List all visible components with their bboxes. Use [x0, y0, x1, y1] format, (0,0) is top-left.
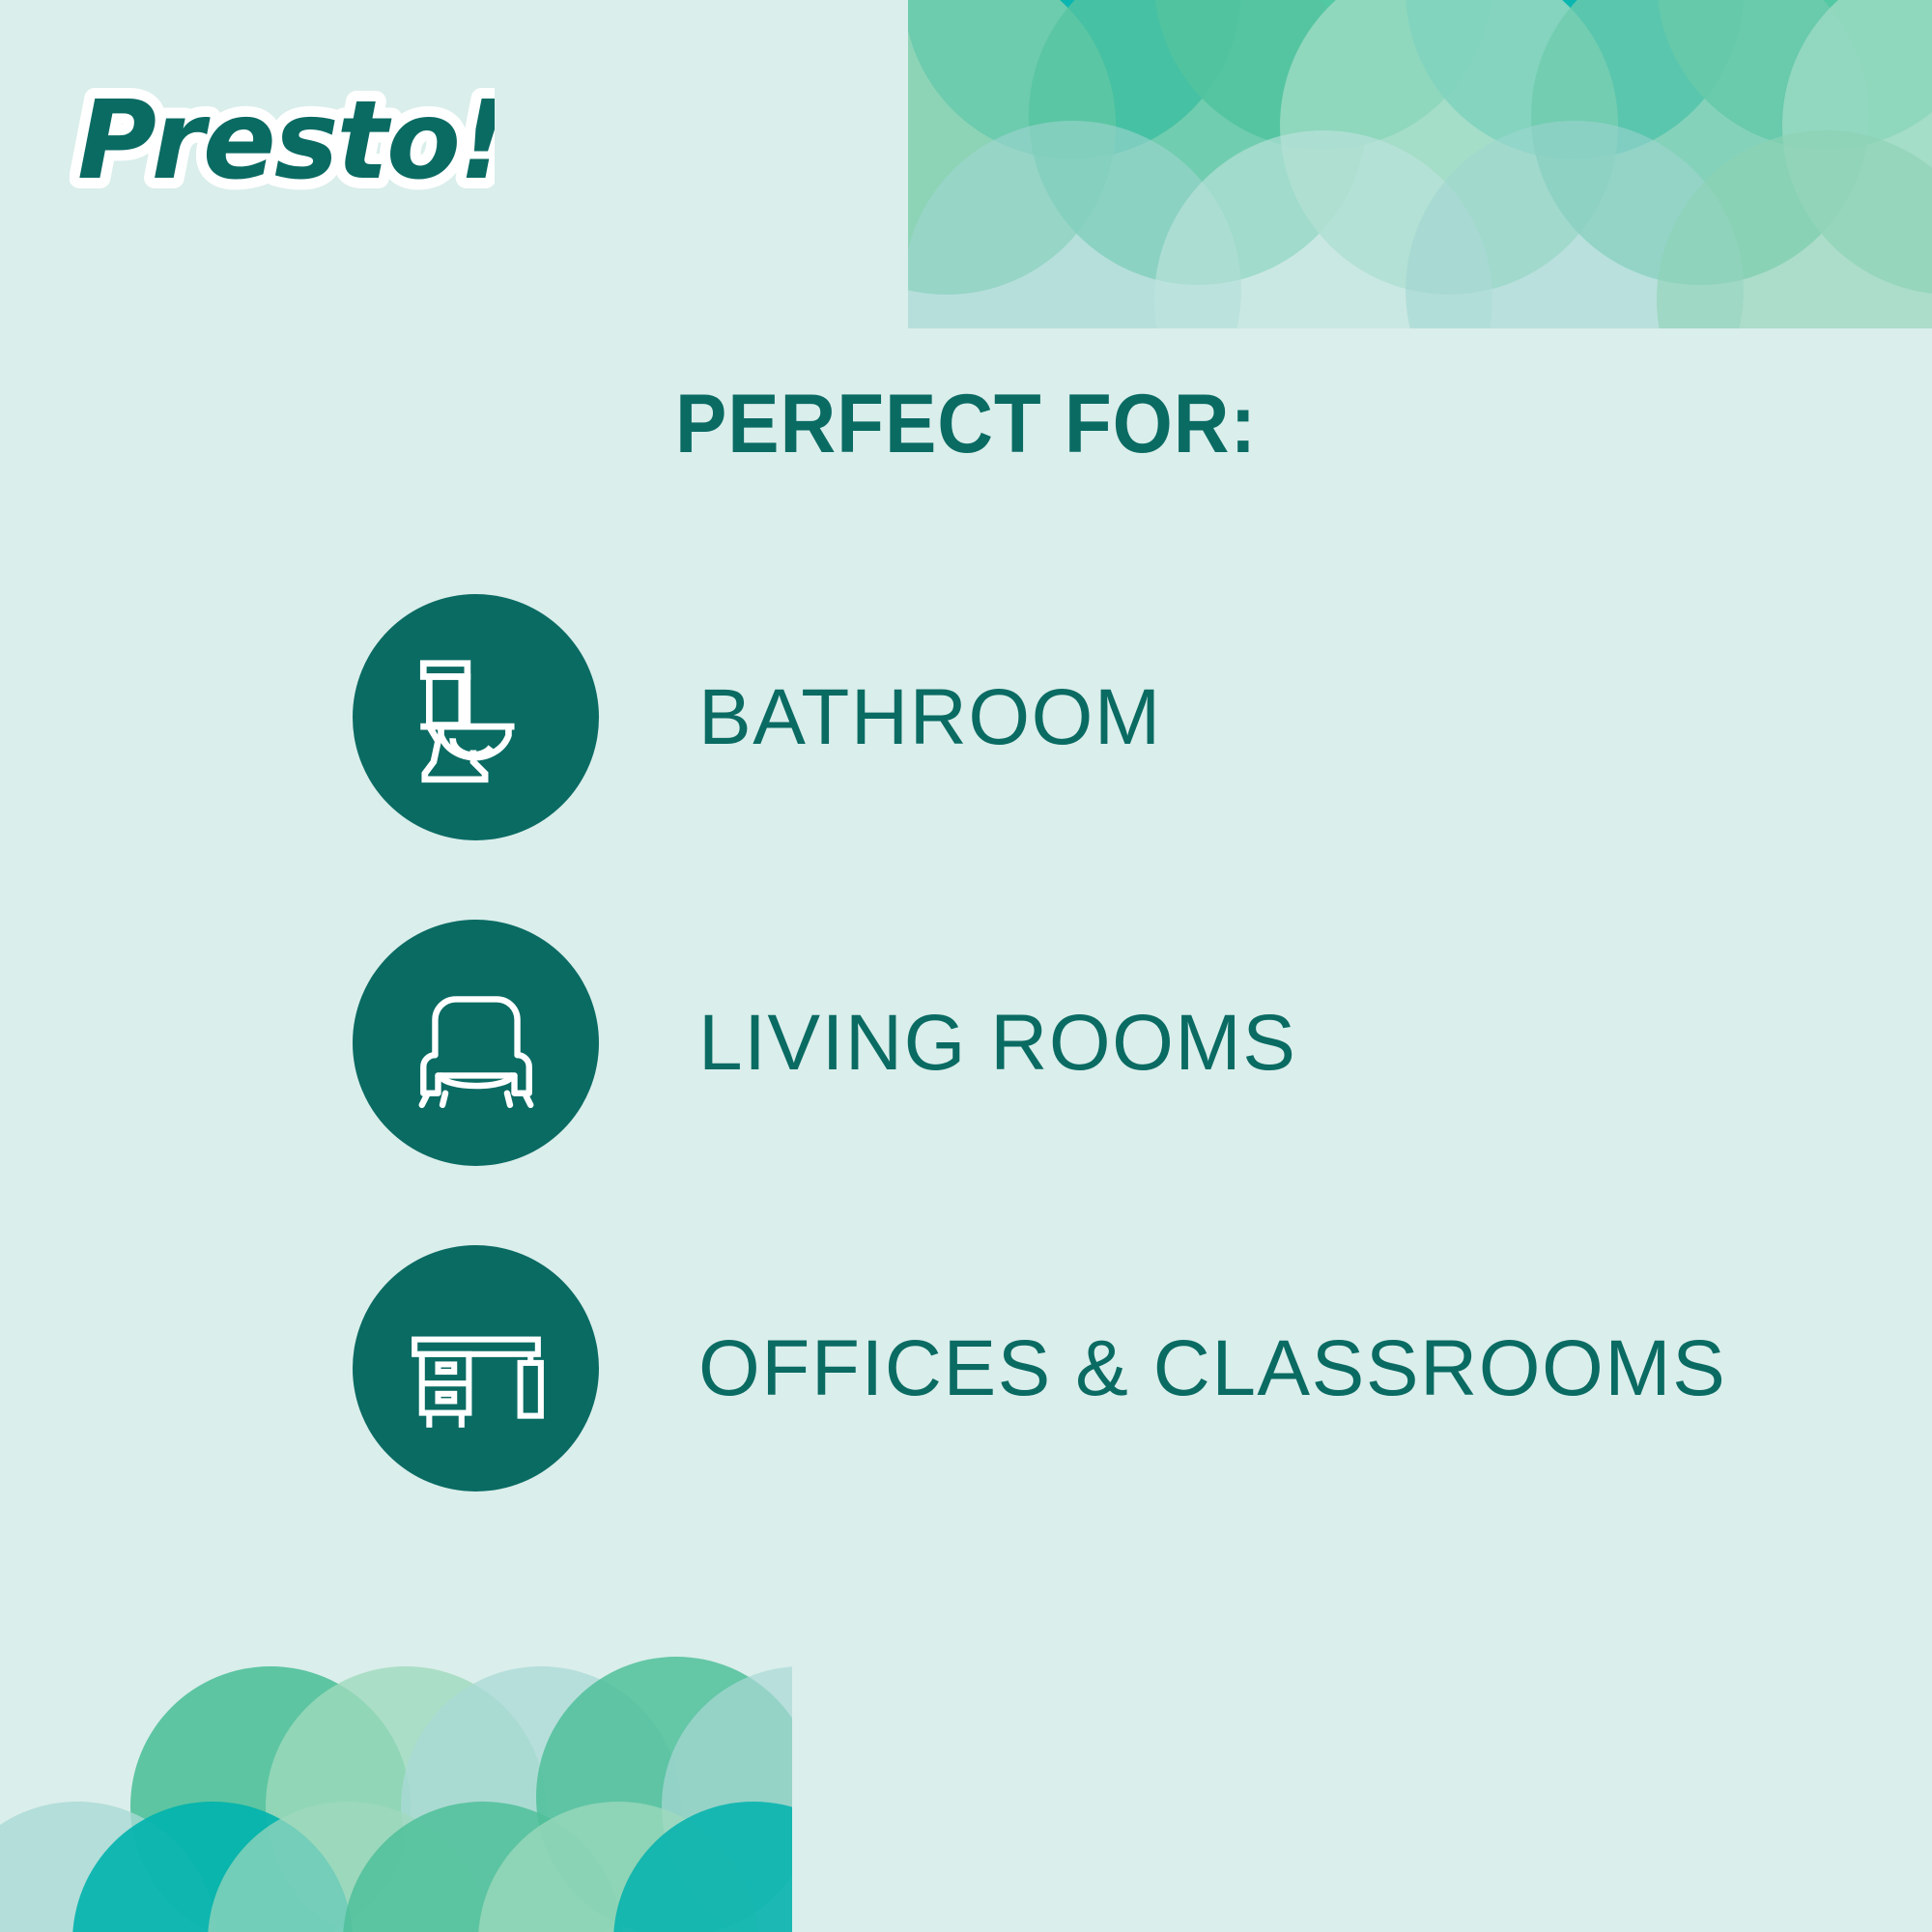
- feature-label-offices: OFFICES & CLASSROOMS: [698, 1329, 1726, 1408]
- list-item: OFFICES & CLASSROOMS: [353, 1245, 1705, 1492]
- icon-badge-bathroom: [353, 594, 599, 840]
- promo-graphic: Presto! Presto! PERFECT FOR:: [0, 0, 1932, 1932]
- icon-badge-living-rooms: [353, 920, 599, 1166]
- decor-pattern-bottom-left: [0, 1623, 792, 1932]
- icon-badge-offices: [353, 1245, 599, 1492]
- presto-logo-text: Presto!: [77, 78, 495, 204]
- list-item: BATHROOM: [353, 594, 1705, 840]
- feature-label-bathroom: BATHROOM: [698, 678, 1162, 757]
- feature-label-living-rooms: LIVING ROOMS: [698, 1004, 1296, 1083]
- desk-icon: [403, 1295, 550, 1442]
- list-item: LIVING ROOMS: [353, 920, 1705, 1166]
- page-title: PERFECT FOR:: [68, 383, 1864, 466]
- presto-logo: Presto! Presto!: [70, 60, 495, 214]
- feature-list: BATHROOM: [353, 594, 1705, 1492]
- armchair-icon: [403, 970, 550, 1117]
- toilet-icon: [403, 644, 550, 791]
- decor-pattern-top-right: [908, 0, 1932, 328]
